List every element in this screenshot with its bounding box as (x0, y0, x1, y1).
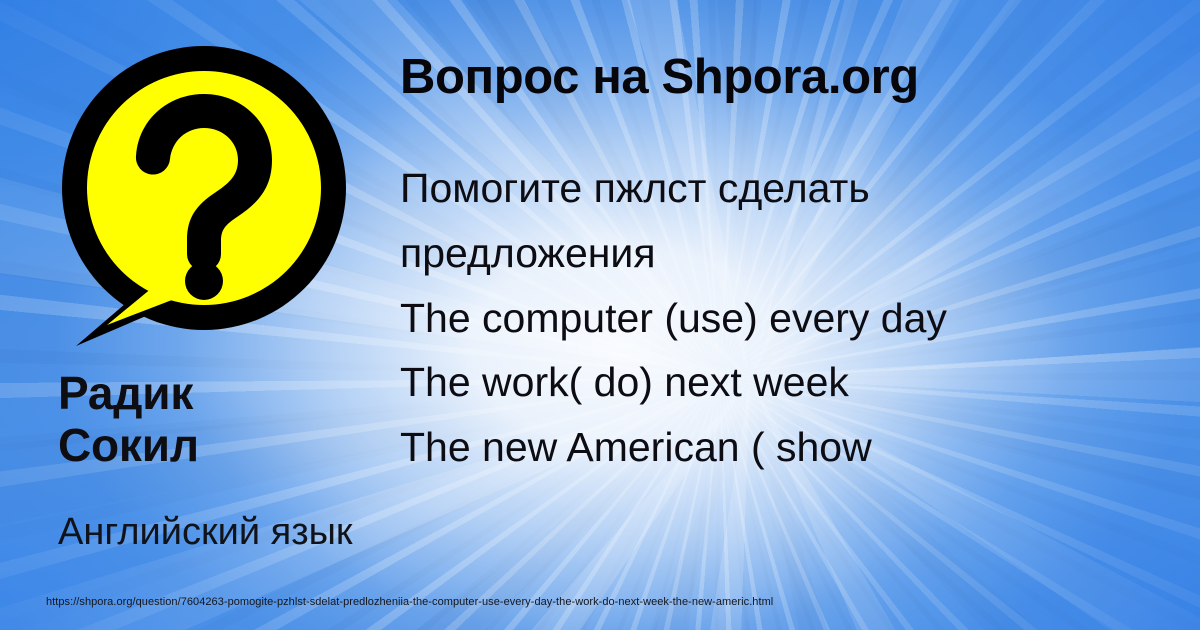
source-url[interactable]: https://shpora.org/question/7604263-pomo… (46, 596, 773, 608)
question-line: The new American ( show (400, 415, 1190, 480)
question-line: Помогите пжлст сделать (400, 156, 1190, 221)
card-content: Радик Сокил Английский язык Вопрос на Sh… (0, 0, 1200, 630)
subject-label: Английский язык (58, 512, 418, 554)
author-name: Радик Сокил (58, 368, 388, 471)
author-name-line-1: Радик (58, 368, 388, 420)
avatar (52, 46, 372, 346)
question-text: Помогите пжлст сделать предложения The c… (400, 156, 1190, 480)
question-speech-bubble-icon (52, 46, 352, 346)
question-line: The computer (use) every day (400, 286, 1190, 351)
page-title: Вопрос на Shpora.org (400, 52, 919, 103)
question-line: предложения (400, 221, 1190, 286)
share-card: Радик Сокил Английский язык Вопрос на Sh… (0, 0, 1200, 630)
author-name-line-2: Сокил (58, 420, 388, 472)
question-line: The work( do) next week (400, 350, 1190, 415)
